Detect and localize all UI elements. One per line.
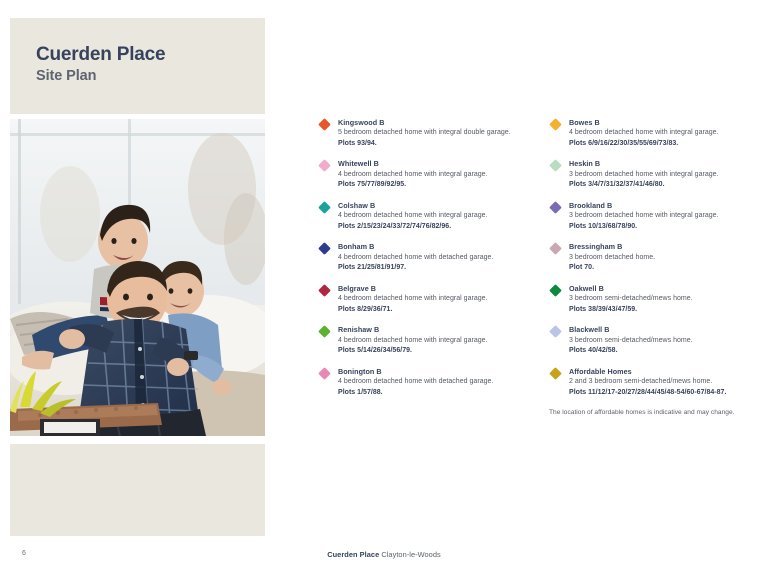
legend-item-name: Blackwell B	[569, 325, 758, 335]
diamond-marker-icon	[318, 160, 331, 173]
legend-column-left: Kingswood B 5 bedroom detached home with…	[318, 118, 527, 418]
legend-item[interactable]: Bressingham B 3 bedroom detached home. P…	[549, 242, 758, 273]
affordable-homes-note: The location of affordable homes is indi…	[549, 408, 758, 418]
legend-column-right: Bowes B 4 bedroom detached home with int…	[549, 118, 758, 418]
legend-item-plots: Plot 70.	[569, 263, 758, 274]
legend-item[interactable]: Bonham B 4 bedroom detached home with de…	[318, 242, 527, 273]
legend-item-description: 3 bedroom detached home with integral ga…	[569, 211, 758, 222]
diamond-marker-icon	[318, 325, 331, 338]
legend-item-name: Belgrave B	[338, 284, 527, 294]
legend-item-plots: Plots 38/39/43/47/59.	[569, 305, 758, 316]
legend-item-description: 4 bedroom detached home with integral ga…	[338, 294, 527, 305]
footer-brand: Cuerden Place Clayton-le-Woods	[0, 550, 768, 559]
legend-item[interactable]: Oakwell B 3 bedroom semi-detached/mews h…	[549, 284, 758, 315]
legend-item-plots: Plots 21/25/81/91/97.	[338, 263, 527, 274]
legend-item-plots: Plots 6/9/16/22/30/35/55/69/73/83.	[569, 139, 758, 150]
legend-item-description: 3 bedroom semi-detached/mews home.	[569, 294, 758, 305]
legend-item-plots: Plots 93/94.	[338, 139, 527, 150]
legend-item[interactable]: Blackwell B 3 bedroom semi-detached/mews…	[549, 325, 758, 356]
legend-item[interactable]: Whitewell B 4 bedroom detached home with…	[318, 159, 527, 190]
legend-item-name: Brookland B	[569, 201, 758, 211]
legend-item-name: Bressingham B	[569, 242, 758, 252]
legend-item-name: Renishaw B	[338, 325, 527, 335]
page-subtitle: Site Plan	[36, 68, 165, 85]
legend-item-description: 4 bedroom detached home with integral ga…	[338, 336, 527, 347]
legend-item-name: Heskin B	[569, 159, 758, 169]
brochure-page: Cuerden Place Site Plan	[0, 0, 768, 576]
footer-location: Clayton-le-Woods	[381, 550, 440, 559]
legend-item[interactable]: Affordable Homes 2 and 3 bedroom semi-de…	[549, 367, 758, 398]
site-plan-legend: Kingswood B 5 bedroom detached home with…	[318, 118, 758, 418]
title-panel: Cuerden Place Site Plan	[10, 18, 265, 114]
page-footer: 6 Cuerden Place Clayton-le-Woods	[0, 550, 768, 570]
legend-item[interactable]: Kingswood B 5 bedroom detached home with…	[318, 118, 527, 149]
legend-item-name: Colshaw B	[338, 201, 527, 211]
bottom-accent-panel	[10, 444, 265, 536]
legend-item-name: Kingswood B	[338, 118, 527, 128]
legend-item-description: 3 bedroom detached home with integral ga…	[569, 170, 758, 181]
legend-item-description: 4 bedroom detached home with integral ga…	[338, 211, 527, 222]
legend-item-plots: Plots 1/57/88.	[338, 388, 527, 399]
diamond-marker-icon	[549, 242, 562, 255]
page-title: Cuerden Place	[36, 44, 165, 66]
legend-item-description: 4 bedroom detached home with detached ga…	[338, 377, 527, 388]
legend-item-description: 4 bedroom detached home with integral ga…	[569, 128, 758, 139]
legend-item-name: Bowes B	[569, 118, 758, 128]
legend-item[interactable]: Renishaw B 4 bedroom detached home with …	[318, 325, 527, 356]
legend-item-description: 2 and 3 bedroom semi-detached/mews home.	[569, 377, 758, 388]
legend-item-plots: Plots 2/15/23/24/33/72/74/76/82/96.	[338, 222, 527, 233]
diamond-marker-icon	[318, 242, 331, 255]
legend-item-plots: Plots 10/13/68/78/90.	[569, 222, 758, 233]
diamond-marker-icon	[318, 367, 331, 380]
legend-item[interactable]: Brookland B 3 bedroom detached home with…	[549, 201, 758, 232]
diamond-marker-icon	[318, 201, 331, 214]
legend-item-plots: Plots 3/4/7/31/32/37/41/46/80.	[569, 180, 758, 191]
legend-item-description: 4 bedroom detached home with integral ga…	[338, 170, 527, 181]
legend-item[interactable]: Heskin B 3 bedroom detached home with in…	[549, 159, 758, 190]
diamond-marker-icon	[549, 160, 562, 173]
diamond-marker-icon	[549, 201, 562, 214]
hero-photo	[10, 119, 265, 436]
diamond-marker-icon	[549, 118, 562, 131]
legend-item-name: Oakwell B	[569, 284, 758, 294]
legend-item[interactable]: Belgrave B 4 bedroom detached home with …	[318, 284, 527, 315]
diamond-marker-icon	[549, 367, 562, 380]
legend-item-plots: Plots 8/29/36/71.	[338, 305, 527, 316]
legend-item-plots: Plots 40/42/58.	[569, 346, 758, 357]
legend-item-name: Bonham B	[338, 242, 527, 252]
title-block: Cuerden Place Site Plan	[36, 44, 165, 85]
legend-item[interactable]: Bonington B 4 bedroom detached home with…	[318, 367, 527, 398]
legend-item[interactable]: Bowes B 4 bedroom detached home with int…	[549, 118, 758, 149]
diamond-marker-icon	[318, 118, 331, 131]
legend-item-name: Bonington B	[338, 367, 527, 377]
legend-item-description: 3 bedroom detached home.	[569, 253, 758, 264]
footer-development-name: Cuerden Place	[327, 550, 379, 559]
diamond-marker-icon	[549, 284, 562, 297]
legend-item-name: Whitewell B	[338, 159, 527, 169]
diamond-marker-icon	[549, 325, 562, 338]
legend-item-plots: Plots 5/14/26/34/56/79.	[338, 346, 527, 357]
diamond-marker-icon	[318, 284, 331, 297]
legend-item-description: 3 bedroom semi-detached/mews home.	[569, 336, 758, 347]
legend-item[interactable]: Colshaw B 4 bedroom detached home with i…	[318, 201, 527, 232]
hero-photo-illustration	[10, 119, 265, 436]
legend-item-plots: Plots 75/77/89/92/95.	[338, 180, 527, 191]
legend-item-plots: Plots 11/12/17-20/27/28/44/45/48-54/60-6…	[569, 388, 758, 399]
legend-item-description: 5 bedroom detached home with integral do…	[338, 128, 527, 139]
left-column: Cuerden Place Site Plan	[10, 18, 265, 536]
legend-item-description: 4 bedroom detached home with detached ga…	[338, 253, 527, 264]
legend-item-name: Affordable Homes	[569, 367, 758, 377]
